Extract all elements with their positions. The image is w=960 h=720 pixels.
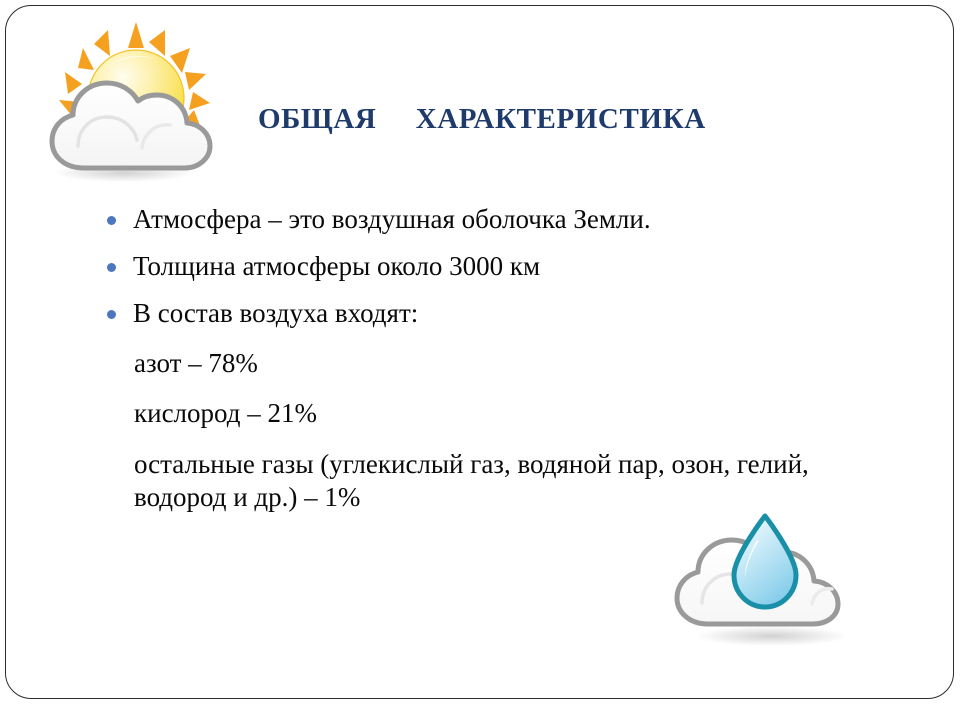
sub-list-item: азот – 78% (104, 348, 904, 378)
content-list: Атмосфера – это воздушная оболочка Земли… (104, 204, 904, 514)
bullet-dot-icon (107, 263, 116, 272)
sub-list-item: кислород – 21% (104, 398, 904, 428)
list-item: Атмосфера – это воздушная оболочка Земли… (104, 204, 904, 234)
cloud-shadow (696, 626, 848, 646)
sun-behind-cloud-icon (32, 18, 232, 183)
cloud-with-raindrop-icon (662, 508, 877, 658)
slide: ОБЩАЯ ХАРАКТЕРИСТИКА Атмосфера – это воз… (0, 0, 960, 720)
bullet-dot-icon (107, 310, 116, 319)
list-item-label: Толщина атмосферы около 3000 км (133, 251, 540, 281)
list-item: Толщина атмосферы около 3000 км (104, 251, 904, 281)
sub-list-item: остальные газы (углекислый газ, водяной … (104, 448, 894, 514)
list-item: В состав воздуха входят: (104, 298, 904, 328)
list-item-label: В состав воздуха входят: (133, 298, 418, 328)
list-item-label: Атмосфера – это воздушная оболочка Земли… (133, 204, 651, 234)
page-title: ОБЩАЯ ХАРАКТЕРИСТИКА (258, 100, 878, 138)
bullet-dot-icon (107, 216, 116, 225)
raindrop-shape (734, 516, 796, 607)
